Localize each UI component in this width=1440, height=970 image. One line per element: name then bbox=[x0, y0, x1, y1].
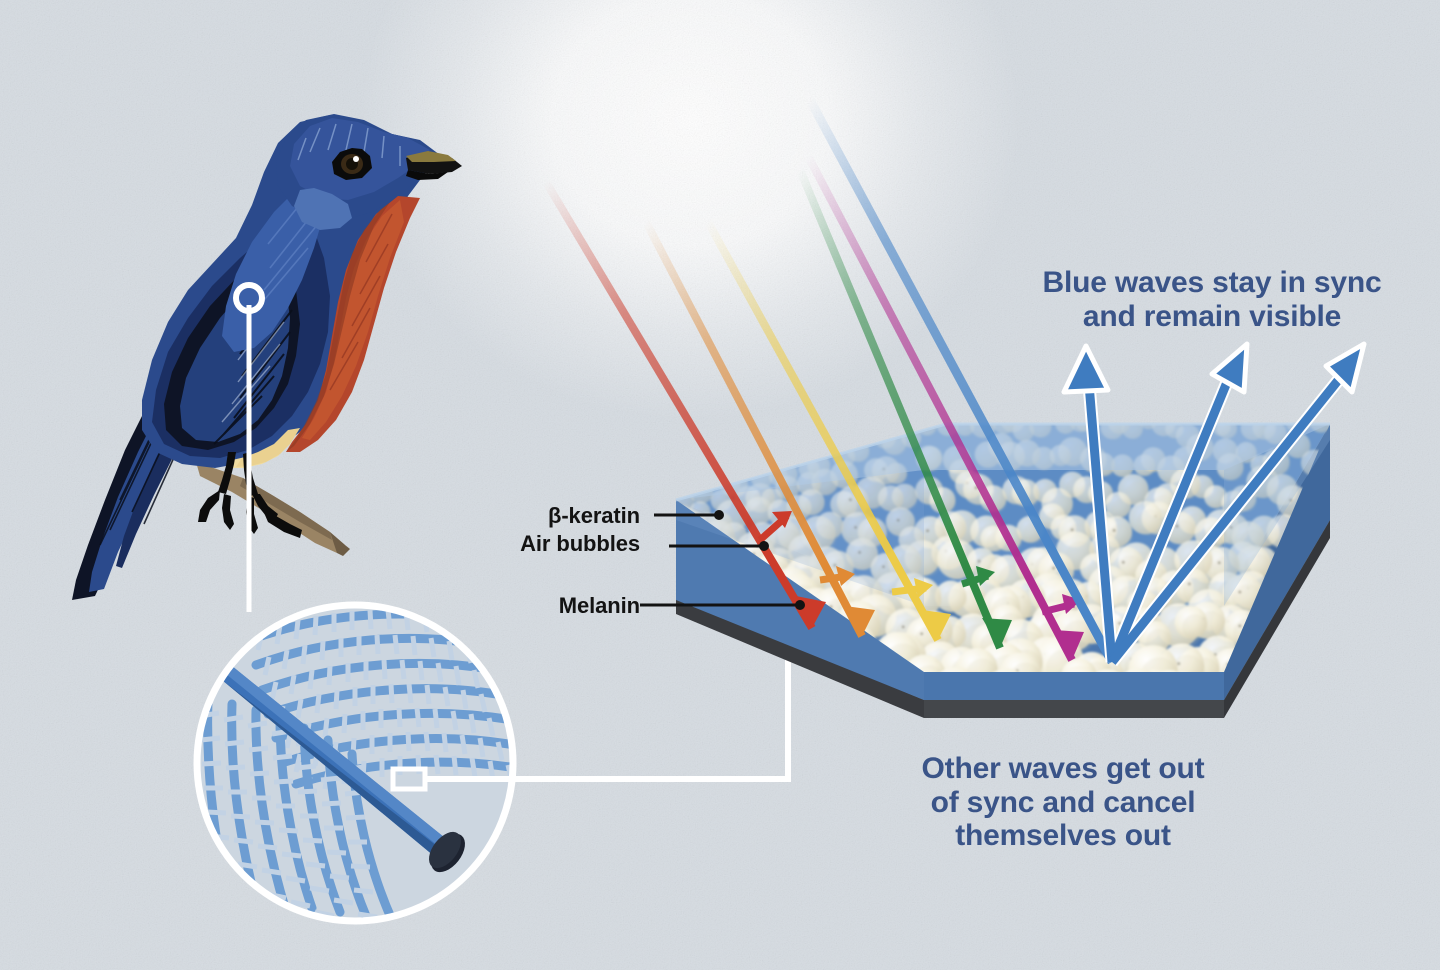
leader-lines bbox=[640, 515, 798, 605]
caption-other-waves: Other waves get outof sync and cancelthe… bbox=[868, 752, 1258, 853]
caption-blue-waves: Blue waves stay in syncand remain visibl… bbox=[1012, 266, 1412, 333]
label-melanin: Melanin bbox=[380, 593, 640, 619]
illustration-canvas: β-keratin Air bubbles Melanin Blue waves… bbox=[0, 0, 1440, 970]
leader-dots bbox=[714, 510, 805, 610]
label-beta-keratin: β-keratin bbox=[380, 503, 640, 529]
label-air-bubbles: Air bubbles bbox=[380, 531, 640, 557]
